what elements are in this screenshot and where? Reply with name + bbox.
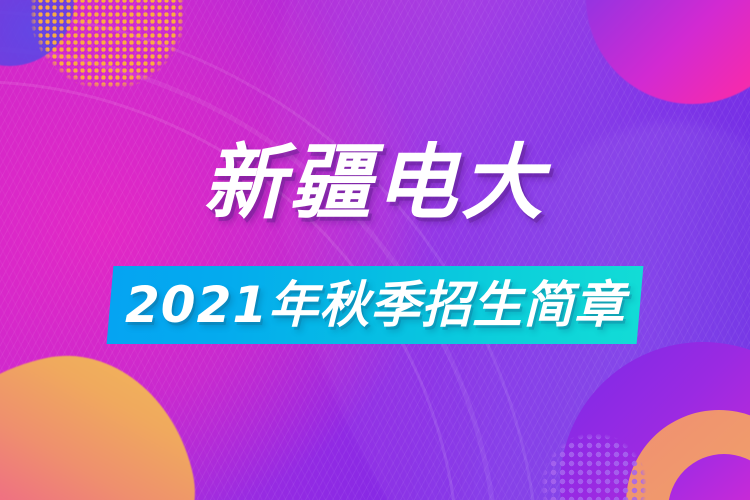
promotional-banner-poster: 新疆电大 2021年秋季招生简章	[0, 0, 750, 500]
page-title: 新疆电大	[0, 143, 750, 225]
subtitle-banner-label: 2021年秋季招生简章	[125, 280, 625, 330]
subtitle-banner: 2021年秋季招生简章	[107, 266, 644, 344]
poster-content: 新疆电大 2021年秋季招生简章	[0, 0, 750, 500]
